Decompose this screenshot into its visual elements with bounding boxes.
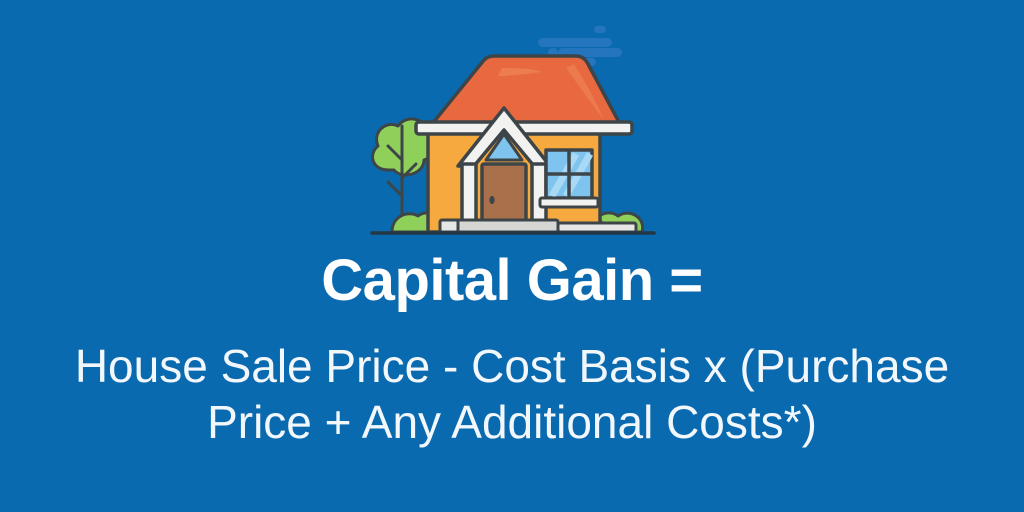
formula-line-2: Price + Any Additional Costs*): [0, 394, 1024, 450]
formula-line-1: House Sale Price - Cost Basis x (Purchas…: [0, 338, 1024, 394]
porch-steps: [440, 220, 636, 232]
capital-gain-infographic: Capital Gain = House Sale Price - Cost B…: [0, 0, 1024, 512]
text-block: Capital Gain = House Sale Price - Cost B…: [0, 252, 1024, 450]
window-icon: [540, 150, 598, 207]
page-title: Capital Gain =: [0, 252, 1024, 310]
house-roof: [432, 56, 620, 124]
formula: House Sale Price - Cost Basis x (Purchas…: [0, 338, 1024, 450]
house-illustration: [362, 20, 662, 252]
